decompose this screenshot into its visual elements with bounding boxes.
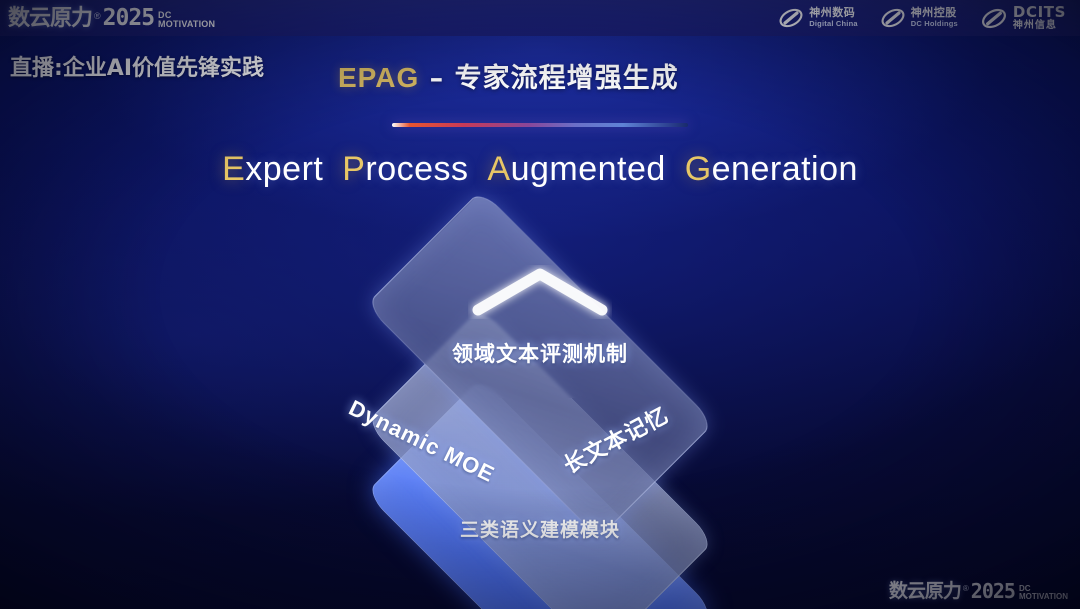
- event-logo-name-cn: 数云原力: [8, 8, 92, 30]
- subtitle-word-expert: Expert: [222, 150, 323, 188]
- logo-dc-holdings-en: DC Holdings: [911, 20, 958, 28]
- logo-dcits-text: DCITS 神州信息: [1013, 5, 1066, 32]
- event-logo-tagline-line2: MOTIVATION: [158, 20, 215, 29]
- subtitle-cap-g: G: [685, 150, 712, 188]
- subtitle-rest-augmented: ugmented: [511, 150, 666, 188]
- event-logo-tagline: DC MOTIVATION: [158, 11, 215, 29]
- logo-dc-holdings-text: 神州控股 DC Holdings: [911, 8, 958, 27]
- logo-dcits: DCITS 神州信息: [980, 5, 1066, 32]
- subtitle-rest-generation: eneration: [712, 150, 858, 188]
- subtitle-word-augmented: Augmented: [487, 150, 665, 188]
- page-title-acronym: EPAG: [338, 62, 419, 93]
- footer-watermark-registered-mark: ®: [963, 584, 969, 593]
- swoosh-icon: [778, 7, 804, 29]
- logo-digital-china: 神州数码 Digital China: [778, 7, 857, 29]
- diagram-layer-bottom-label: 三类语义建模模块: [460, 515, 620, 542]
- subtitle-word-process: Process: [342, 150, 468, 188]
- subtitle-cap-e: E: [222, 150, 245, 188]
- live-stream-label-wrap: 直播:企业AI价值先锋实践: [10, 50, 264, 82]
- page-title: EPAG – 专家流程增强生成: [338, 56, 679, 95]
- chevron-up-icon: [468, 265, 612, 319]
- logo-dcits-sub: 神州信息: [1013, 20, 1066, 32]
- page-title-cn: – 专家流程增强生成: [419, 63, 678, 94]
- event-logo-registered-mark: ®: [94, 12, 101, 21]
- logo-dc-holdings: 神州控股 DC Holdings: [880, 7, 958, 29]
- subtitle-word-generation: Generation: [685, 150, 858, 188]
- subtitle-rest-process: rocess: [365, 150, 468, 188]
- page-subtitle: Expert Process Augmented Generation: [0, 150, 1080, 189]
- swoosh-icon: [880, 7, 906, 29]
- partner-logo-group: 神州数码 Digital China 神州控股 DC Holdings: [778, 5, 1070, 32]
- subtitle-space-2: [473, 150, 483, 188]
- footer-watermark: 数云原力 ® 2025 DC MOTIVATION: [889, 581, 1068, 601]
- header-bar: 数云原力 ® 2025 DC MOTIVATION 神州数码 Digital C…: [0, 0, 1080, 36]
- gradient-divider: [392, 123, 688, 127]
- diagram-layer-top-label: 领域文本评测机制: [452, 338, 628, 368]
- footer-watermark-tagline-line2: MOTIVATION: [1019, 593, 1068, 601]
- subtitle-rest-expert: xpert: [245, 150, 323, 188]
- logo-dcits-name: DCITS: [1013, 5, 1066, 20]
- subtitle-cap-a: A: [487, 150, 510, 188]
- layer-stack-diagram: 领域文本评测机制 Dynamic MOE 长文本记忆 三类语义建模模块: [0, 205, 1080, 585]
- subtitle-cap-p: P: [342, 150, 365, 188]
- footer-watermark-name-cn: 数云原力: [889, 582, 961, 601]
- slide-canvas: 数云原力 ® 2025 DC MOTIVATION 神州数码 Digital C…: [0, 0, 1080, 609]
- logo-digital-china-en: Digital China: [809, 20, 857, 28]
- subtitle-space-1: [328, 150, 338, 188]
- swoosh-icon: [980, 7, 1008, 30]
- event-logo: 数云原力 ® 2025 DC MOTIVATION: [8, 7, 215, 30]
- logo-digital-china-text: 神州数码 Digital China: [809, 8, 857, 27]
- event-logo-year: 2025: [103, 7, 154, 30]
- footer-watermark-tagline: DC MOTIVATION: [1019, 585, 1068, 601]
- live-stream-label: 直播:企业AI价值先锋实践: [10, 50, 264, 82]
- footer-watermark-year: 2025: [971, 581, 1015, 601]
- subtitle-space-3: [670, 150, 680, 188]
